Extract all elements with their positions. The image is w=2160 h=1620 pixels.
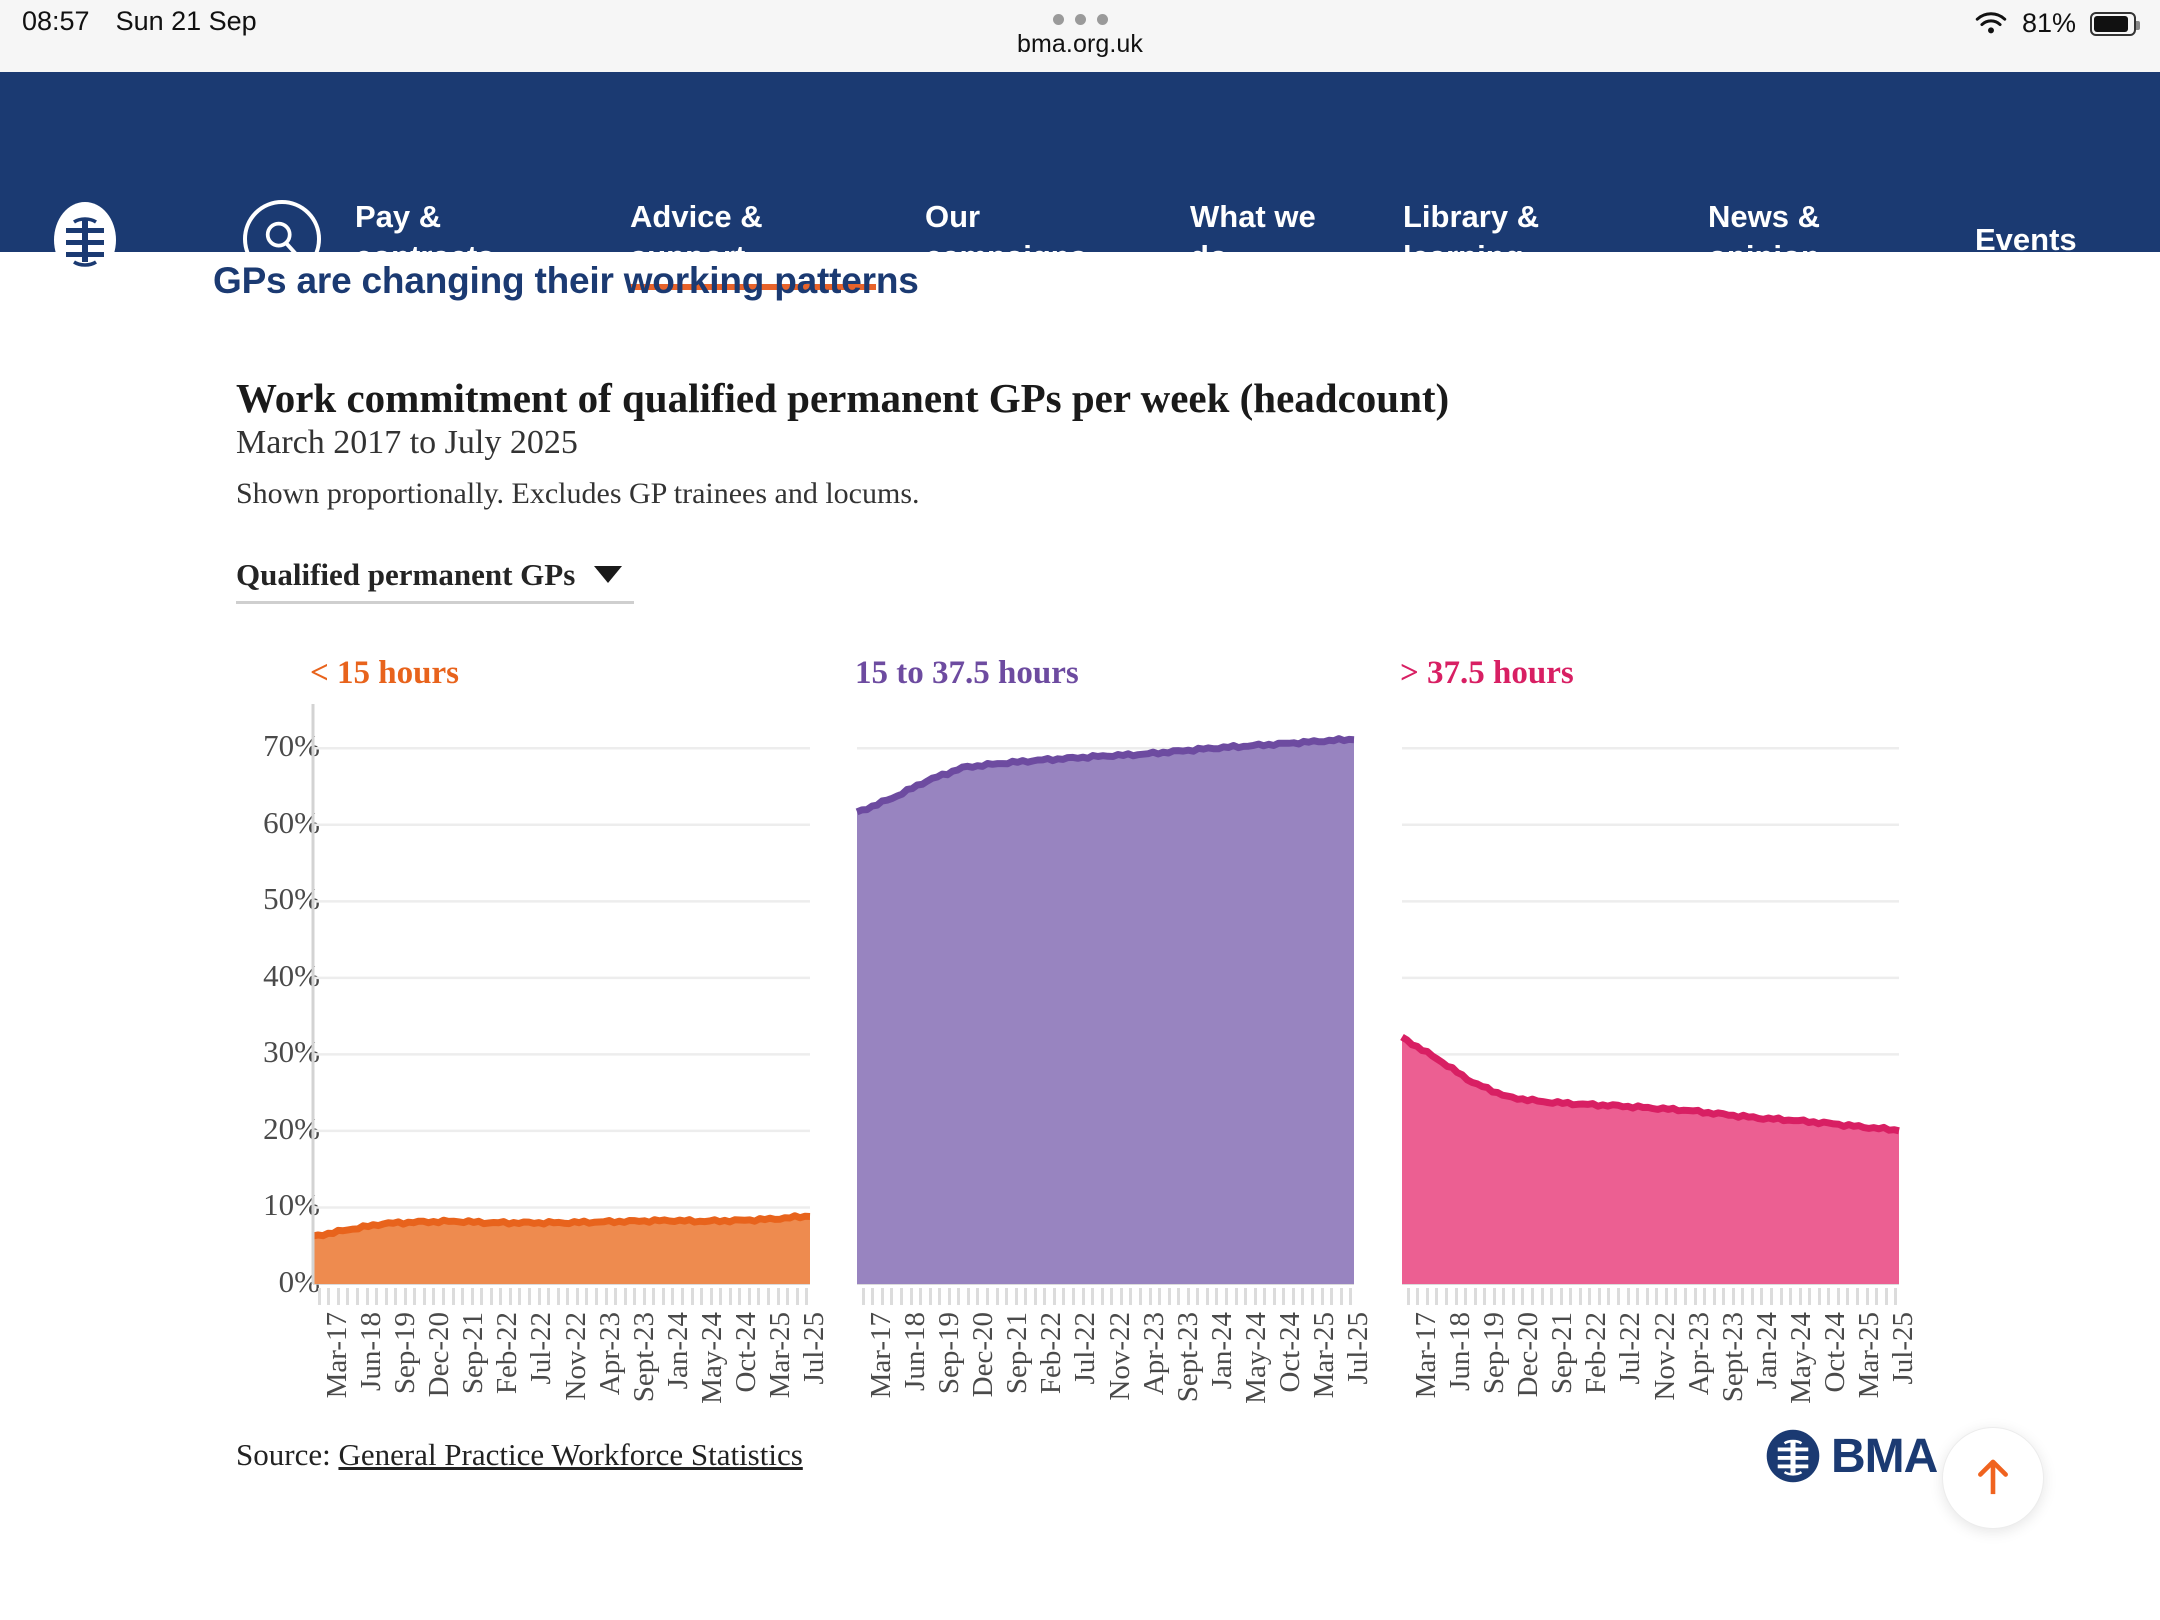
page-title: GPs are changing their working patterns (213, 260, 919, 302)
x-axis-tick (1139, 1288, 1142, 1305)
x-axis-tick (1655, 1288, 1658, 1305)
x-axis-tick-label: Jul-22 (1614, 1312, 1647, 1385)
x-axis-tick-label: Jun-18 (355, 1312, 388, 1391)
x-axis-tick (423, 1288, 426, 1305)
x-axis-tick (1646, 1288, 1649, 1305)
status-date: Sun 21 Sep (116, 6, 257, 37)
x-axis-tick-label: Dec-20 (1512, 1312, 1545, 1397)
x-axis-tick (1206, 1288, 1209, 1305)
ios-status-bar: 08:57 Sun 21 Sep 81% (0, 0, 2160, 72)
chart-title: Work commitment of qualified permanent G… (236, 374, 1449, 422)
x-axis-tick (729, 1288, 732, 1305)
x-axis-tick-label: May-24 (1240, 1312, 1273, 1404)
x-axis-tick-label: Jul-25 (798, 1312, 831, 1385)
x-axis-tick (1799, 1288, 1802, 1305)
bma-footer-logo[interactable]: BMA (1765, 1428, 1937, 1484)
x-axis-tick (1827, 1288, 1830, 1305)
x-axis-tick (938, 1288, 941, 1305)
x-axis-tick (633, 1288, 636, 1305)
x-axis-tick (404, 1288, 407, 1305)
chart-source: Source: General Practice Workforce Stati… (236, 1437, 803, 1473)
x-axis-tick (652, 1288, 655, 1305)
source-prefix: Source: (236, 1437, 338, 1472)
x-axis-tick (1560, 1288, 1563, 1305)
x-axis-tick (1407, 1288, 1410, 1305)
x-axis-tick (557, 1288, 560, 1305)
nav-item-events[interactable]: Events (1975, 220, 2077, 260)
x-axis-tick (719, 1288, 722, 1305)
x-axis-tick-label: Jan-24 (1206, 1312, 1239, 1389)
panel-title: 15 to 37.5 hours (855, 655, 1079, 692)
x-axis-tick (1474, 1288, 1477, 1305)
area-chart-panel[interactable] (313, 710, 810, 1290)
x-axis-tick (1674, 1288, 1677, 1305)
arrow-up-icon (1970, 1455, 2016, 1501)
x-axis-tick (1062, 1288, 1065, 1305)
x-axis-tick (442, 1288, 445, 1305)
x-axis-tick (1512, 1288, 1515, 1305)
x-axis-tick (624, 1288, 627, 1305)
x-axis-tick (1665, 1288, 1668, 1305)
x-axis-tick (1091, 1288, 1094, 1305)
nav-item-label: News & opinion (1708, 199, 1820, 274)
x-axis-tick (890, 1288, 893, 1305)
x-axis-tick (1598, 1288, 1601, 1305)
x-axis-tick (1301, 1288, 1304, 1305)
x-axis-tick (643, 1288, 646, 1305)
x-axis-tick (375, 1288, 378, 1305)
x-axis-tick (595, 1288, 598, 1305)
x-axis-tick-label: Sept-23 (1717, 1312, 1750, 1402)
nav-item-our-campaigns[interactable]: Our campaigns (925, 197, 1087, 276)
x-axis-tick-label: Feb-22 (491, 1312, 524, 1394)
x-axis-tick (1187, 1288, 1190, 1305)
x-axis-tick (1856, 1288, 1859, 1305)
dataset-dropdown[interactable]: Qualified permanent GPs (236, 548, 634, 604)
x-axis-tick (509, 1288, 512, 1305)
x-axis-tick (796, 1288, 799, 1305)
x-axis-tick (1617, 1288, 1620, 1305)
x-axis-tick-label: Nov-22 (1104, 1312, 1137, 1401)
x-axis-tick-label: Jun-18 (899, 1312, 932, 1391)
x-axis-tick (1282, 1288, 1285, 1305)
x-axis-tick-label: Mar-17 (321, 1312, 354, 1398)
x-axis-tick (1215, 1288, 1218, 1305)
x-axis-tick (614, 1288, 617, 1305)
x-axis-tick (1072, 1288, 1075, 1305)
x-axis-tick (757, 1288, 760, 1305)
x-axis-tick (1770, 1288, 1773, 1305)
x-axis-tick (881, 1288, 884, 1305)
x-axis-tick (1579, 1288, 1582, 1305)
x-axis-tick (1177, 1288, 1180, 1305)
x-axis-tick (499, 1288, 502, 1305)
x-axis-tick (948, 1288, 951, 1305)
x-axis-tick (327, 1288, 330, 1305)
area-chart-panel[interactable] (857, 710, 1354, 1290)
x-axis-tick (1694, 1288, 1697, 1305)
area-fill (857, 739, 1354, 1284)
source-link[interactable]: General Practice Workforce Statistics (338, 1437, 802, 1472)
x-axis-tick (1426, 1288, 1429, 1305)
x-axis-tick-label: Sept-23 (1172, 1312, 1205, 1402)
x-axis-tick-label: Dec-20 (423, 1312, 456, 1397)
x-axis-tick (738, 1288, 741, 1305)
nav-item-what-we-do[interactable]: What we do (1190, 197, 1316, 276)
x-axis-tick (1636, 1288, 1639, 1305)
x-axis-tick (1110, 1288, 1113, 1305)
battery-percent-label: 81% (2022, 8, 2076, 39)
x-axis-tick (394, 1288, 397, 1305)
x-axis-tick-label: Oct-24 (1274, 1312, 1307, 1393)
x-axis-tick (1120, 1288, 1123, 1305)
status-bar-left: 08:57 Sun 21 Sep (22, 6, 257, 37)
y-axis-tick-label: 0% (222, 1264, 320, 1300)
x-axis-tick (996, 1288, 999, 1305)
x-axis-tick (1082, 1288, 1085, 1305)
x-axis-tick (1885, 1288, 1888, 1305)
x-axis-tick-label: Jul-25 (1342, 1312, 1375, 1385)
x-axis-tick (1627, 1288, 1630, 1305)
x-axis-tick (1053, 1288, 1056, 1305)
x-axis-tick (1101, 1288, 1104, 1305)
x-axis-tick (1703, 1288, 1706, 1305)
x-axis-tick (1263, 1288, 1266, 1305)
x-axis-tick (1837, 1288, 1840, 1305)
area-chart-panel[interactable] (1402, 710, 1899, 1290)
x-axis-tick (1818, 1288, 1821, 1305)
x-axis-tick (605, 1288, 608, 1305)
x-axis-tick (1024, 1288, 1027, 1305)
x-axis-tick-label: Mar-25 (1308, 1312, 1341, 1398)
x-axis-tick (366, 1288, 369, 1305)
x-axis-tick (1340, 1288, 1343, 1305)
status-time: 08:57 (22, 6, 90, 37)
nav-item-label: Events (1975, 222, 2077, 257)
x-axis-tick (1780, 1288, 1783, 1305)
x-axis-tick (576, 1288, 579, 1305)
x-axis-tick (976, 1288, 979, 1305)
y-axis-tick-label: 70% (222, 728, 320, 764)
battery-icon (2090, 12, 2136, 36)
x-axis-tick-label: Jul-22 (525, 1312, 558, 1385)
y-axis-tick-label: 60% (222, 805, 320, 841)
x-axis-tick (490, 1288, 493, 1305)
x-axis-tick (432, 1288, 435, 1305)
x-axis-tick (957, 1288, 960, 1305)
x-axis-tick (461, 1288, 464, 1305)
x-axis-tick-label: Mar-17 (1410, 1312, 1443, 1398)
x-axis-tick (471, 1288, 474, 1305)
x-axis-tick (413, 1288, 416, 1305)
x-axis-tick-label: Sept-23 (628, 1312, 661, 1402)
x-axis-tick-label: Sep-19 (389, 1312, 422, 1394)
x-axis-tick (452, 1288, 455, 1305)
x-axis-tick (480, 1288, 483, 1305)
x-axis-tick (547, 1288, 550, 1305)
x-axis-tick (1273, 1288, 1276, 1305)
x-axis-tick (1789, 1288, 1792, 1305)
y-axis-tick-label: 50% (222, 881, 320, 917)
x-axis-tick-label: Nov-22 (1649, 1312, 1682, 1401)
x-axis-tick (786, 1288, 789, 1305)
x-axis-tick (1684, 1288, 1687, 1305)
x-axis-tick-label: May-24 (696, 1312, 729, 1404)
x-axis-tick (767, 1288, 770, 1305)
x-axis-tick-label: Oct-24 (730, 1312, 763, 1393)
x-axis-tick (805, 1288, 808, 1305)
x-axis-tick-label: Feb-22 (1580, 1312, 1613, 1394)
x-axis-tick (318, 1288, 321, 1305)
x-axis-tick-label: Sep-21 (457, 1312, 490, 1394)
x-axis-tick-label: Apr-23 (594, 1312, 627, 1395)
x-axis-tick (538, 1288, 541, 1305)
chart-subtitle: March 2017 to July 2025 (236, 424, 578, 462)
x-axis-tick (1588, 1288, 1591, 1305)
x-axis-tick-label: Jan-24 (1751, 1312, 1784, 1389)
x-axis-tick (986, 1288, 989, 1305)
x-axis-tick (862, 1288, 865, 1305)
x-axis-tick (1866, 1288, 1869, 1305)
x-axis-tick (1149, 1288, 1152, 1305)
x-axis-tick (528, 1288, 531, 1305)
x-axis-tick-label: Nov-22 (560, 1312, 593, 1401)
panel-title: < 15 hours (310, 655, 459, 692)
x-axis-tick (919, 1288, 922, 1305)
x-axis-tick (1493, 1288, 1496, 1305)
x-axis-tick (681, 1288, 684, 1305)
x-axis-tick (1531, 1288, 1534, 1305)
x-axis-tick (748, 1288, 751, 1305)
dataset-dropdown-value: Qualified permanent GPs (236, 557, 575, 593)
x-axis-tick (1483, 1288, 1486, 1305)
x-axis-tick (1435, 1288, 1438, 1305)
x-axis-tick-label: Mar-25 (1853, 1312, 1886, 1398)
nav-item-label: Library & learning (1403, 199, 1539, 274)
x-axis-tick (1196, 1288, 1199, 1305)
x-axis-tick (1732, 1288, 1735, 1305)
y-axis-tick-label: 30% (222, 1034, 320, 1070)
x-axis-tick-label: Apr-23 (1138, 1312, 1171, 1395)
x-axis-tick-label: Sep-19 (1478, 1312, 1511, 1394)
x-axis-tick (1894, 1288, 1897, 1305)
x-axis-tick (1455, 1288, 1458, 1305)
x-axis-tick (1541, 1288, 1544, 1305)
wifi-icon (1974, 11, 2008, 37)
x-axis-tick (1846, 1288, 1849, 1305)
x-axis-tick-label: Jul-22 (1069, 1312, 1102, 1385)
chevron-down-icon (594, 566, 622, 583)
x-axis-tick (585, 1288, 588, 1305)
status-bar-right: 81% (1974, 8, 2136, 39)
x-axis-tick (671, 1288, 674, 1305)
x-axis-tick-label: Jun-18 (1444, 1312, 1477, 1391)
x-axis-tick (1129, 1288, 1132, 1305)
x-axis-tick (662, 1288, 665, 1305)
x-axis-tick (1550, 1288, 1553, 1305)
x-axis-tick-label: Apr-23 (1683, 1312, 1716, 1395)
x-axis-tick (700, 1288, 703, 1305)
x-axis-tick-label: Sep-21 (1546, 1312, 1579, 1394)
area-fill (1402, 1037, 1899, 1284)
x-axis-tick (356, 1288, 359, 1305)
x-axis-tick-label: Jan-24 (662, 1312, 695, 1389)
x-axis-tick-label: May-24 (1785, 1312, 1818, 1404)
x-axis-tick (1464, 1288, 1467, 1305)
x-axis-tick-label: Mar-17 (865, 1312, 898, 1398)
x-axis-tick (910, 1288, 913, 1305)
x-axis-tick (691, 1288, 694, 1305)
x-axis-tick-label: Sep-21 (1001, 1312, 1034, 1394)
y-axis-tick-label: 40% (222, 958, 320, 994)
x-axis-tick-label: Dec-20 (967, 1312, 1000, 1397)
x-axis-tick (1875, 1288, 1878, 1305)
x-axis-tick-label: Sep-19 (933, 1312, 966, 1394)
x-axis-tick (1330, 1288, 1333, 1305)
x-axis-tick (1521, 1288, 1524, 1305)
x-axis-tick (385, 1288, 388, 1305)
x-axis-tick (1808, 1288, 1811, 1305)
site-navigation-bar: Pay & contracts Advice & support Our cam… (0, 72, 2160, 252)
x-axis-tick (929, 1288, 932, 1305)
x-axis-tick (1244, 1288, 1247, 1305)
bma-logo-icon[interactable] (52, 200, 118, 280)
x-axis-tick (337, 1288, 340, 1305)
x-axis-tick (1607, 1288, 1610, 1305)
x-axis-tick (1416, 1288, 1419, 1305)
x-axis-tick (900, 1288, 903, 1305)
x-axis-tick (1741, 1288, 1744, 1305)
x-axis-tick (1292, 1288, 1295, 1305)
x-axis-tick (1751, 1288, 1754, 1305)
x-axis-tick (1043, 1288, 1046, 1305)
x-axis-tick (777, 1288, 780, 1305)
x-axis-tick-label: Feb-22 (1035, 1312, 1068, 1394)
x-axis-tick (566, 1288, 569, 1305)
nav-item-label: What we do (1190, 199, 1316, 274)
x-axis-tick (1713, 1288, 1716, 1305)
x-axis-tick (1225, 1288, 1228, 1305)
x-axis-tick (1311, 1288, 1314, 1305)
x-axis-tick (1015, 1288, 1018, 1305)
x-axis-tick (1158, 1288, 1161, 1305)
x-axis-tick (1349, 1288, 1352, 1305)
nav-item-news-and-opinion[interactable]: News & opinion (1708, 197, 1820, 276)
scroll-to-top-button[interactable] (1942, 1427, 2044, 1529)
nav-item-label: Our campaigns (925, 199, 1087, 274)
x-axis-tick (1569, 1288, 1572, 1305)
x-axis-tick (1760, 1288, 1763, 1305)
x-axis-tick (1235, 1288, 1238, 1305)
bma-logo-icon (1765, 1428, 1821, 1484)
x-axis-tick (346, 1288, 349, 1305)
panel-title: > 37.5 hours (1400, 655, 1574, 692)
x-axis-tick (1254, 1288, 1257, 1305)
x-axis-tick-label: Jul-25 (1887, 1312, 1920, 1385)
x-axis-tick (518, 1288, 521, 1305)
chart-note: Shown proportionally. Excludes GP traine… (236, 477, 920, 511)
x-axis-tick-label: Oct-24 (1819, 1312, 1852, 1393)
x-axis-tick (1005, 1288, 1008, 1305)
x-axis-tick-label: Mar-25 (764, 1312, 797, 1398)
x-axis-tick (871, 1288, 874, 1305)
bma-footer-text: BMA (1831, 1429, 1937, 1484)
x-axis-tick (1502, 1288, 1505, 1305)
x-axis-tick (1168, 1288, 1171, 1305)
y-axis-tick-label: 20% (222, 1111, 320, 1147)
x-axis-tick (967, 1288, 970, 1305)
y-axis-tick-label: 10% (222, 1187, 320, 1223)
x-axis-tick (1321, 1288, 1324, 1305)
x-axis-tick (1722, 1288, 1725, 1305)
x-axis-tick (1034, 1288, 1037, 1305)
nav-item-library-and-learning[interactable]: Library & learning (1403, 197, 1539, 276)
x-axis-tick (710, 1288, 713, 1305)
x-axis-tick (1445, 1288, 1448, 1305)
